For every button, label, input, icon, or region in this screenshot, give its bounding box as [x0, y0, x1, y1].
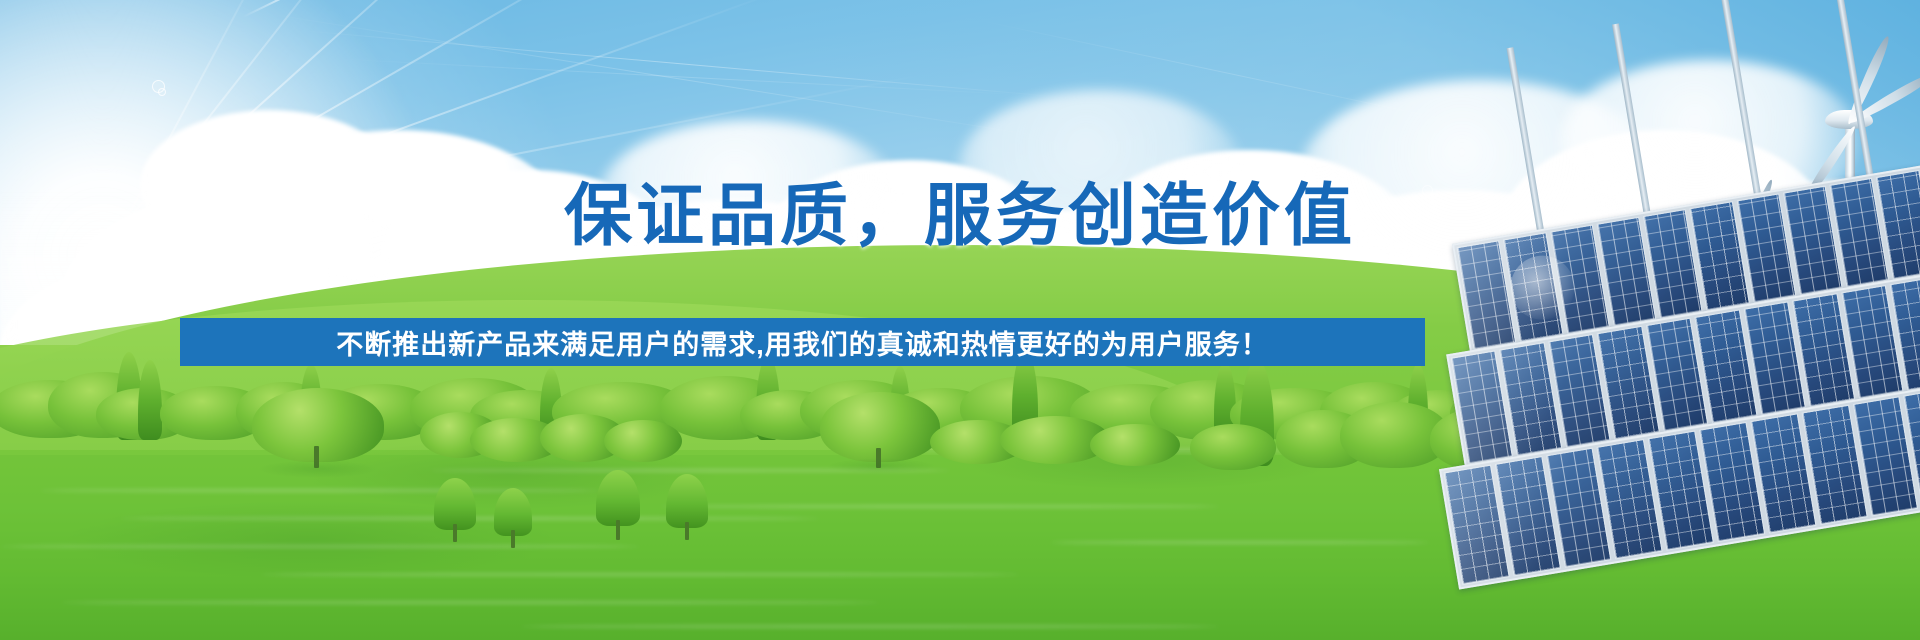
- sapling-4: [666, 474, 708, 538]
- lawn-tree-right: [820, 392, 940, 466]
- page-title: 保证品质，服务创造价值: [0, 160, 1920, 259]
- sapling-1: [434, 478, 476, 540]
- lawn-tree-large: [252, 388, 384, 464]
- sapling-2: [494, 488, 532, 546]
- sapling-3: [596, 470, 640, 538]
- subtitle-banner: 不断推出新产品来满足用户的需求,用我们的真诚和热情更好的为用户服务！: [180, 318, 1425, 366]
- promo-banner: 保证品质，服务创造价值 不断推出新产品来满足用户的需求,用我们的真诚和热情更好的…: [0, 0, 1920, 640]
- subtitle-text: 不断推出新产品来满足用户的需求,用我们的真诚和热情更好的为用户服务！: [336, 323, 1269, 362]
